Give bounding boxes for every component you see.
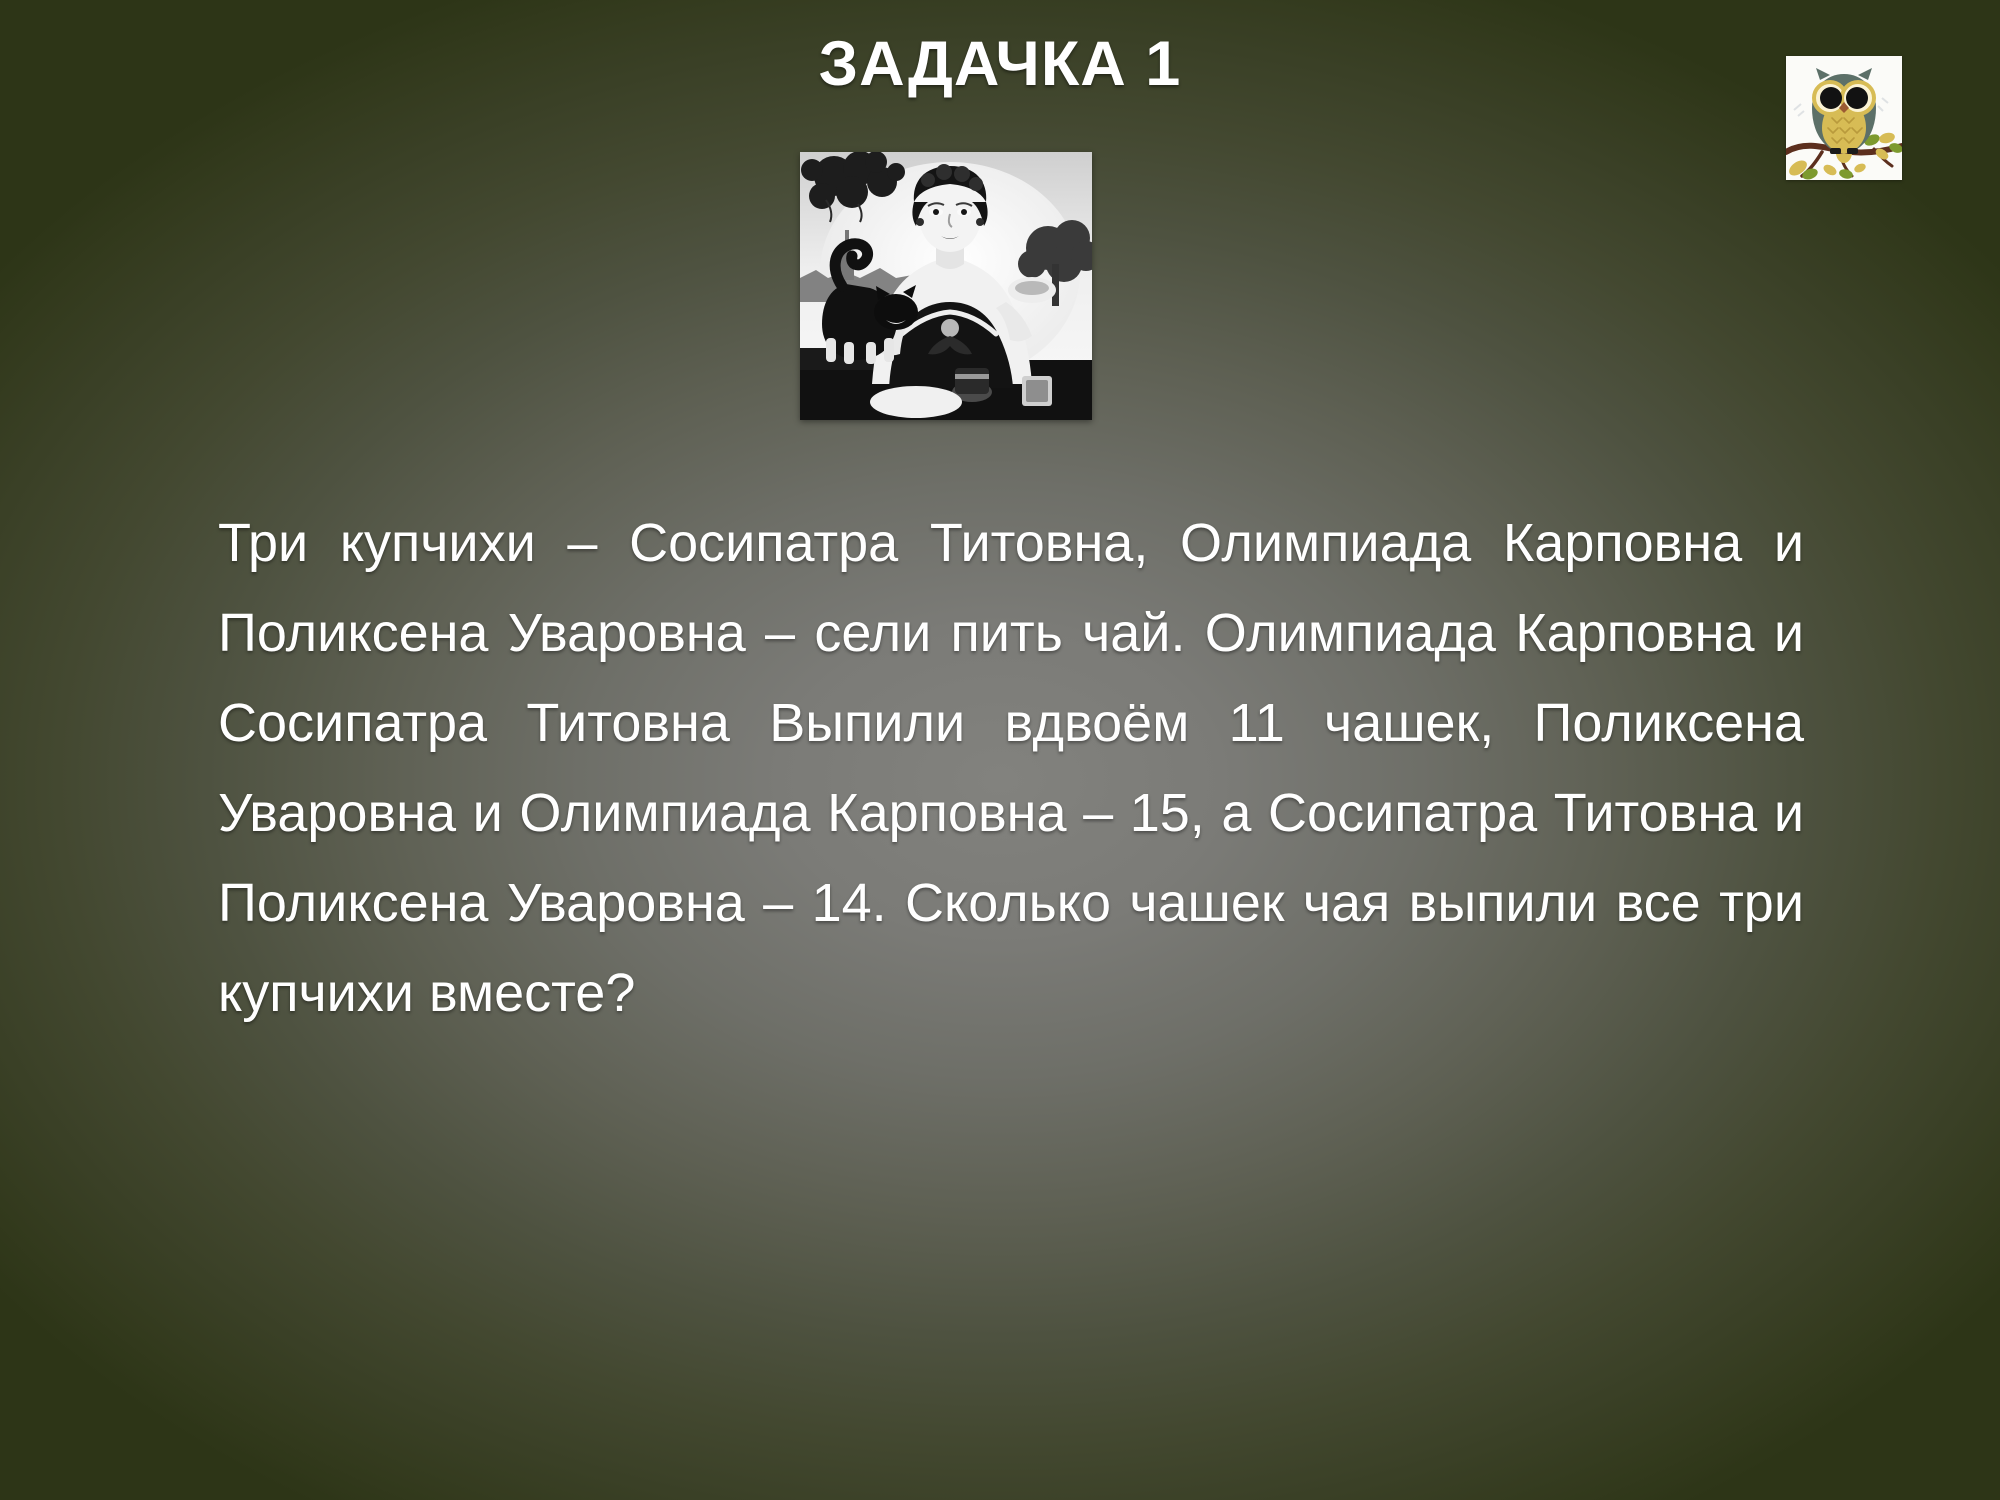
- slide: ЗАДАЧКА 1: [0, 0, 2000, 1500]
- painting-illustration: [800, 152, 1092, 420]
- task-text: Три купчихи – Сосипатра Титовна, Олимпиа…: [218, 498, 1804, 1038]
- owl-icon: [1786, 56, 1902, 180]
- task-paragraph: Три купчихи – Сосипатра Титовна, Олимпиа…: [218, 498, 1804, 1038]
- merchants-wife-at-tea-photo: [800, 152, 1092, 420]
- owl-on-branch-logo: [1786, 56, 1902, 180]
- page-title: ЗАДАЧКА 1: [0, 28, 2000, 100]
